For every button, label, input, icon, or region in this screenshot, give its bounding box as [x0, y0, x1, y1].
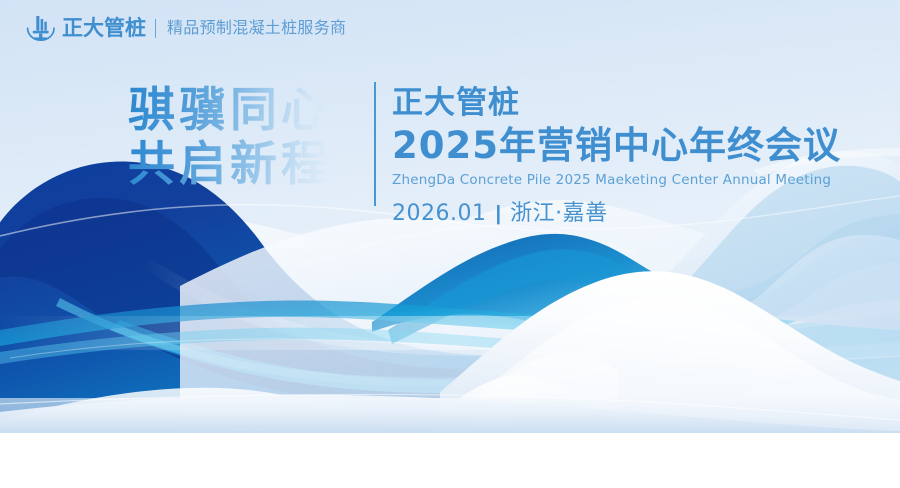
conference-banner: 正大管桩 精品预制混凝土桩服务商 骐骥同心 共启新程 正大管桩 2025年营销中… [0, 0, 900, 488]
event-location: 浙江·嘉善 [510, 203, 608, 225]
slogan-line-2: 共启新程 [128, 138, 332, 192]
brand-logo-lockup[interactable]: 正大管桩 精品预制混凝土桩服务商 [26, 14, 346, 42]
headline-main-title: 2025年营销中心年终会议 [392, 123, 841, 169]
event-date: 2026.01 [392, 203, 486, 225]
headline-english-subtitle: ZhengDa Concrete Pile 2025 Maeketing Cen… [392, 171, 841, 189]
vertical-divider [374, 82, 376, 206]
meta-separator: | [495, 204, 501, 224]
logo-divider [155, 19, 156, 38]
logo-company-name: 正大管桩 [62, 18, 146, 39]
headline-meta: 2026.01 | 浙江·嘉善 [392, 203, 841, 225]
headline-block: 正大管桩 2025年营销中心年终会议 ZhengDa Concrete Pile… [392, 84, 841, 225]
logo-tagline: 精品预制混凝土桩服务商 [167, 20, 346, 36]
slogan-block: 骐骥同心 共启新程 [128, 84, 332, 192]
slogan-line-1: 骐骥同心 [128, 84, 332, 138]
pile-building-icon [26, 14, 56, 42]
bottom-white-strip [0, 433, 900, 488]
headline-company-name: 正大管桩 [392, 84, 841, 122]
